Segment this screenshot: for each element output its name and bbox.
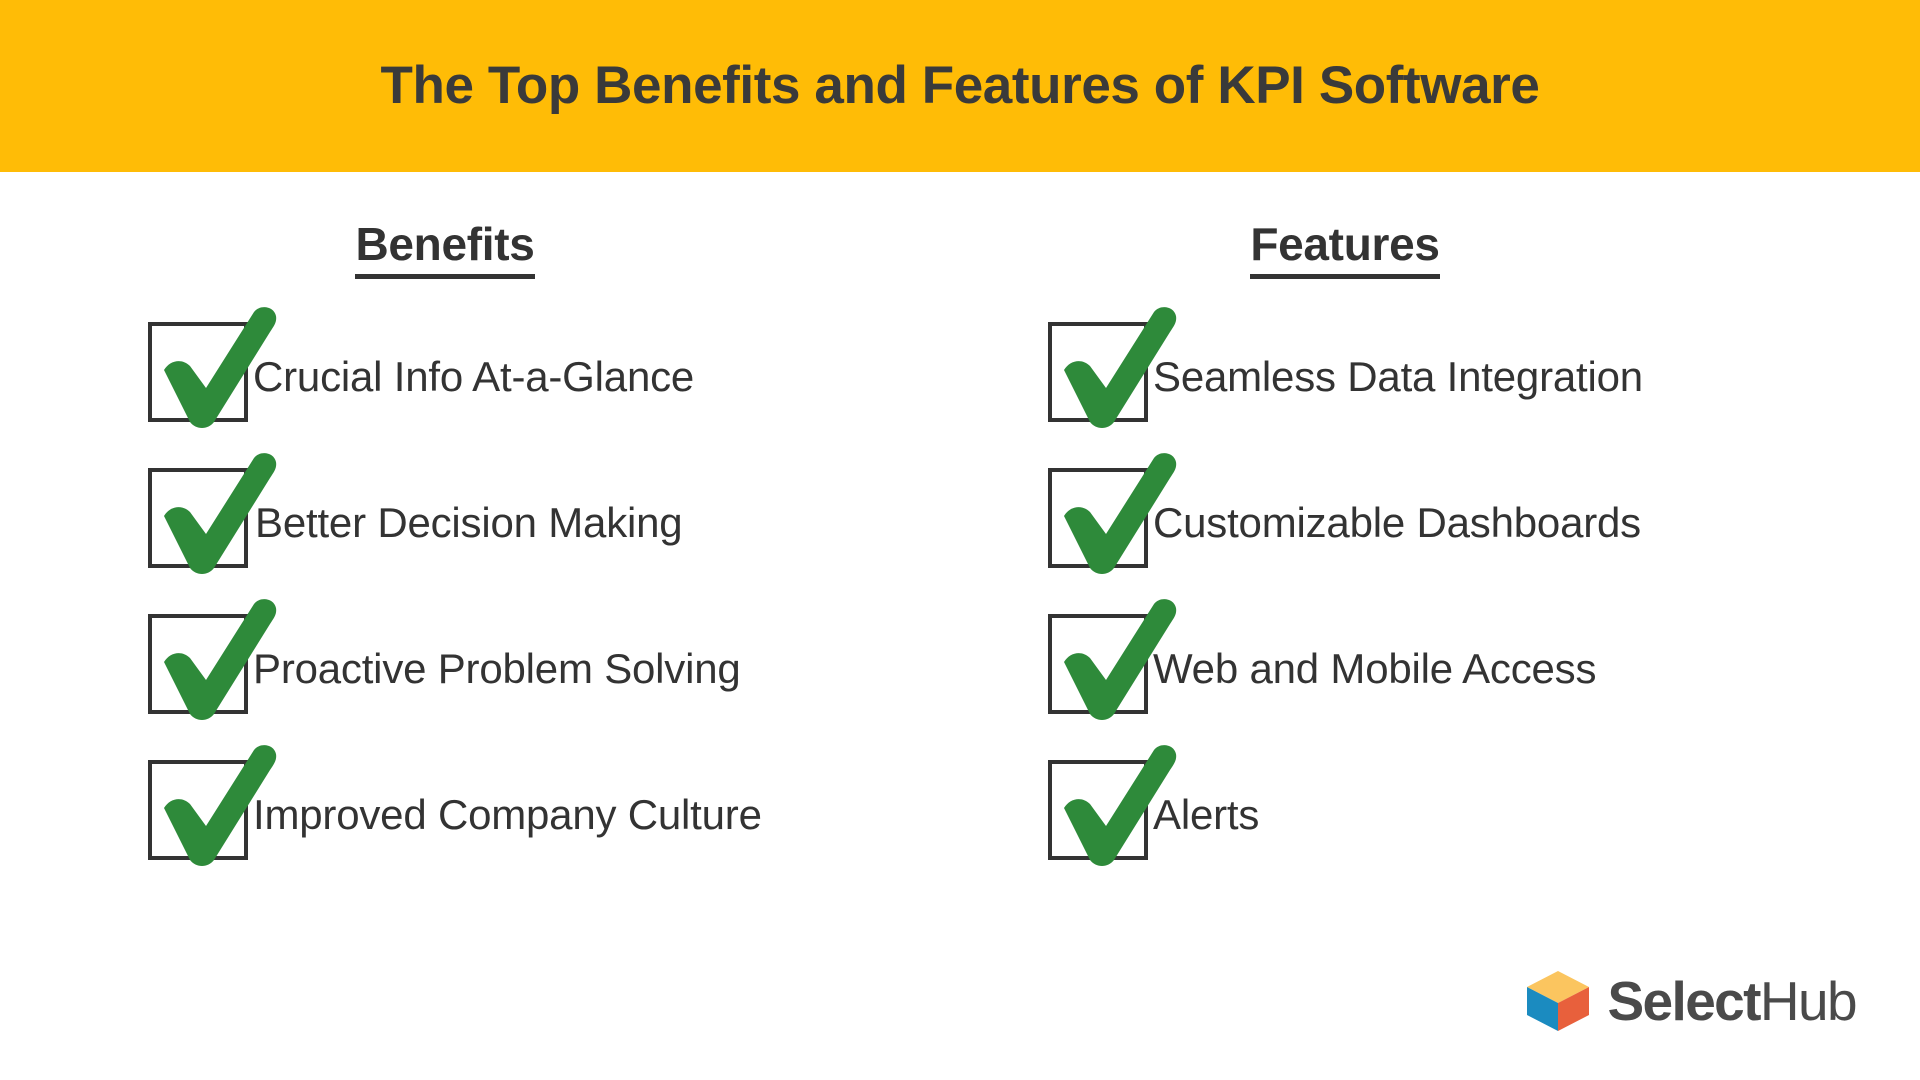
list-item-label: Better Decision Making <box>245 468 682 544</box>
checkmark-icon <box>150 450 278 578</box>
column-heading-label: Features <box>1250 217 1439 279</box>
list-item-label: Seamless Data Integration <box>1145 322 1643 398</box>
list-item[interactable]: Proactive Problem Solving <box>100 614 960 760</box>
logo-name-light: Hub <box>1760 970 1856 1032</box>
selecthub-wordmark: SelectHub <box>1607 974 1856 1029</box>
logo-name-bold: Select <box>1607 970 1759 1032</box>
checkbox-container[interactable] <box>1000 468 1145 613</box>
selecthub-logo[interactable]: SelectHub <box>1525 966 1856 1036</box>
column-features: Features Seamless Data Integration <box>1000 172 1860 906</box>
features-list: Seamless Data Integration Customizable D… <box>1000 322 1860 906</box>
list-item[interactable]: Crucial Info At-a-Glance <box>100 322 960 468</box>
selecthub-cube-icon <box>1525 970 1591 1032</box>
list-item[interactable]: Alerts <box>1000 760 1860 906</box>
list-item-label: Web and Mobile Access <box>1145 614 1596 690</box>
list-item-label: Crucial Info At-a-Glance <box>245 322 694 398</box>
checkbox-container[interactable] <box>1000 614 1145 759</box>
checkbox-container[interactable] <box>100 322 245 467</box>
column-heading-label: Benefits <box>355 217 534 279</box>
checkmark-icon <box>1050 742 1178 870</box>
column-benefits: Benefits Crucial Info At-a-Glance <box>100 172 960 906</box>
checkbox-container[interactable] <box>100 760 245 905</box>
checkbox-container[interactable] <box>100 614 245 759</box>
checkmark-icon <box>150 596 278 724</box>
column-heading-features: Features <box>1000 217 1690 279</box>
list-item[interactable]: Web and Mobile Access <box>1000 614 1860 760</box>
checkmark-icon <box>1050 596 1178 724</box>
checkbox-container[interactable] <box>100 468 245 613</box>
list-item-label: Proactive Problem Solving <box>245 614 741 690</box>
list-item-label: Customizable Dashboards <box>1145 468 1641 544</box>
checkbox-container[interactable] <box>1000 760 1145 905</box>
list-item-label: Improved Company Culture <box>245 760 762 836</box>
header-banner: The Top Benefits and Features of KPI Sof… <box>0 0 1920 172</box>
benefits-list: Crucial Info At-a-Glance Better Decision… <box>100 322 960 906</box>
checkbox-container[interactable] <box>1000 322 1145 467</box>
list-item[interactable]: Better Decision Making <box>100 468 960 614</box>
list-item[interactable]: Customizable Dashboards <box>1000 468 1860 614</box>
checkmark-icon <box>150 304 278 432</box>
checkmark-icon <box>1050 450 1178 578</box>
column-heading-benefits: Benefits <box>100 217 790 279</box>
list-item[interactable]: Seamless Data Integration <box>1000 322 1860 468</box>
content-area: Benefits Crucial Info At-a-Glance <box>0 172 1920 1080</box>
page-title: The Top Benefits and Features of KPI Sof… <box>381 57 1540 115</box>
checkmark-icon <box>1050 304 1178 432</box>
list-item[interactable]: Improved Company Culture <box>100 760 960 906</box>
checkmark-icon <box>150 742 278 870</box>
